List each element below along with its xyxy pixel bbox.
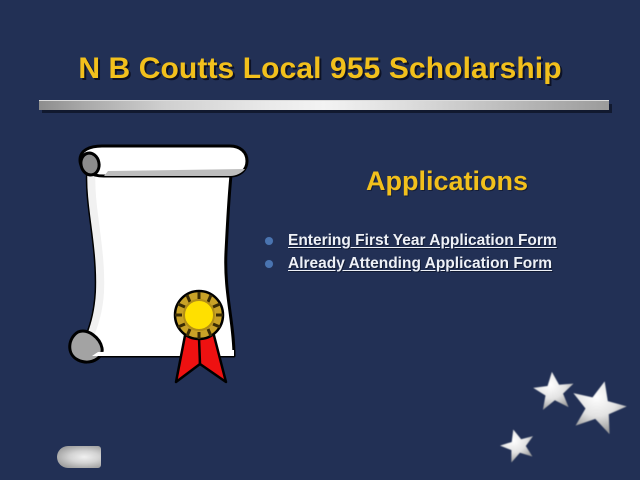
title-divider-bar: [39, 100, 609, 111]
list-item[interactable]: Already Attending Application Form: [262, 252, 634, 275]
star-large: [566, 375, 631, 437]
award-seal-icon: [175, 291, 223, 339]
stars-decoration-icon: [496, 368, 640, 480]
section-heading: Applications: [262, 166, 632, 197]
page-title: N B Coutts Local 955 Scholarship: [0, 52, 640, 86]
disc-bullet-icon: [265, 260, 273, 268]
slideshow-back-button[interactable]: [57, 446, 101, 468]
divider-highlight: [39, 100, 609, 110]
list-item[interactable]: Entering First Year Application Form: [262, 229, 634, 252]
disc-bullet-icon: [265, 237, 273, 245]
link-entering-first-year-application-form[interactable]: Entering First Year Application Form: [288, 232, 557, 250]
star-small: [497, 425, 539, 464]
application-links-list: Entering First Year Application Form Alr…: [262, 229, 634, 275]
presentation-slide: N B Coutts Local 955 Scholarship: [0, 0, 640, 480]
star-medium: [532, 370, 576, 411]
link-already-attending-application-form[interactable]: Already Attending Application Form: [288, 255, 552, 273]
scroll-certificate-icon: [58, 142, 258, 392]
